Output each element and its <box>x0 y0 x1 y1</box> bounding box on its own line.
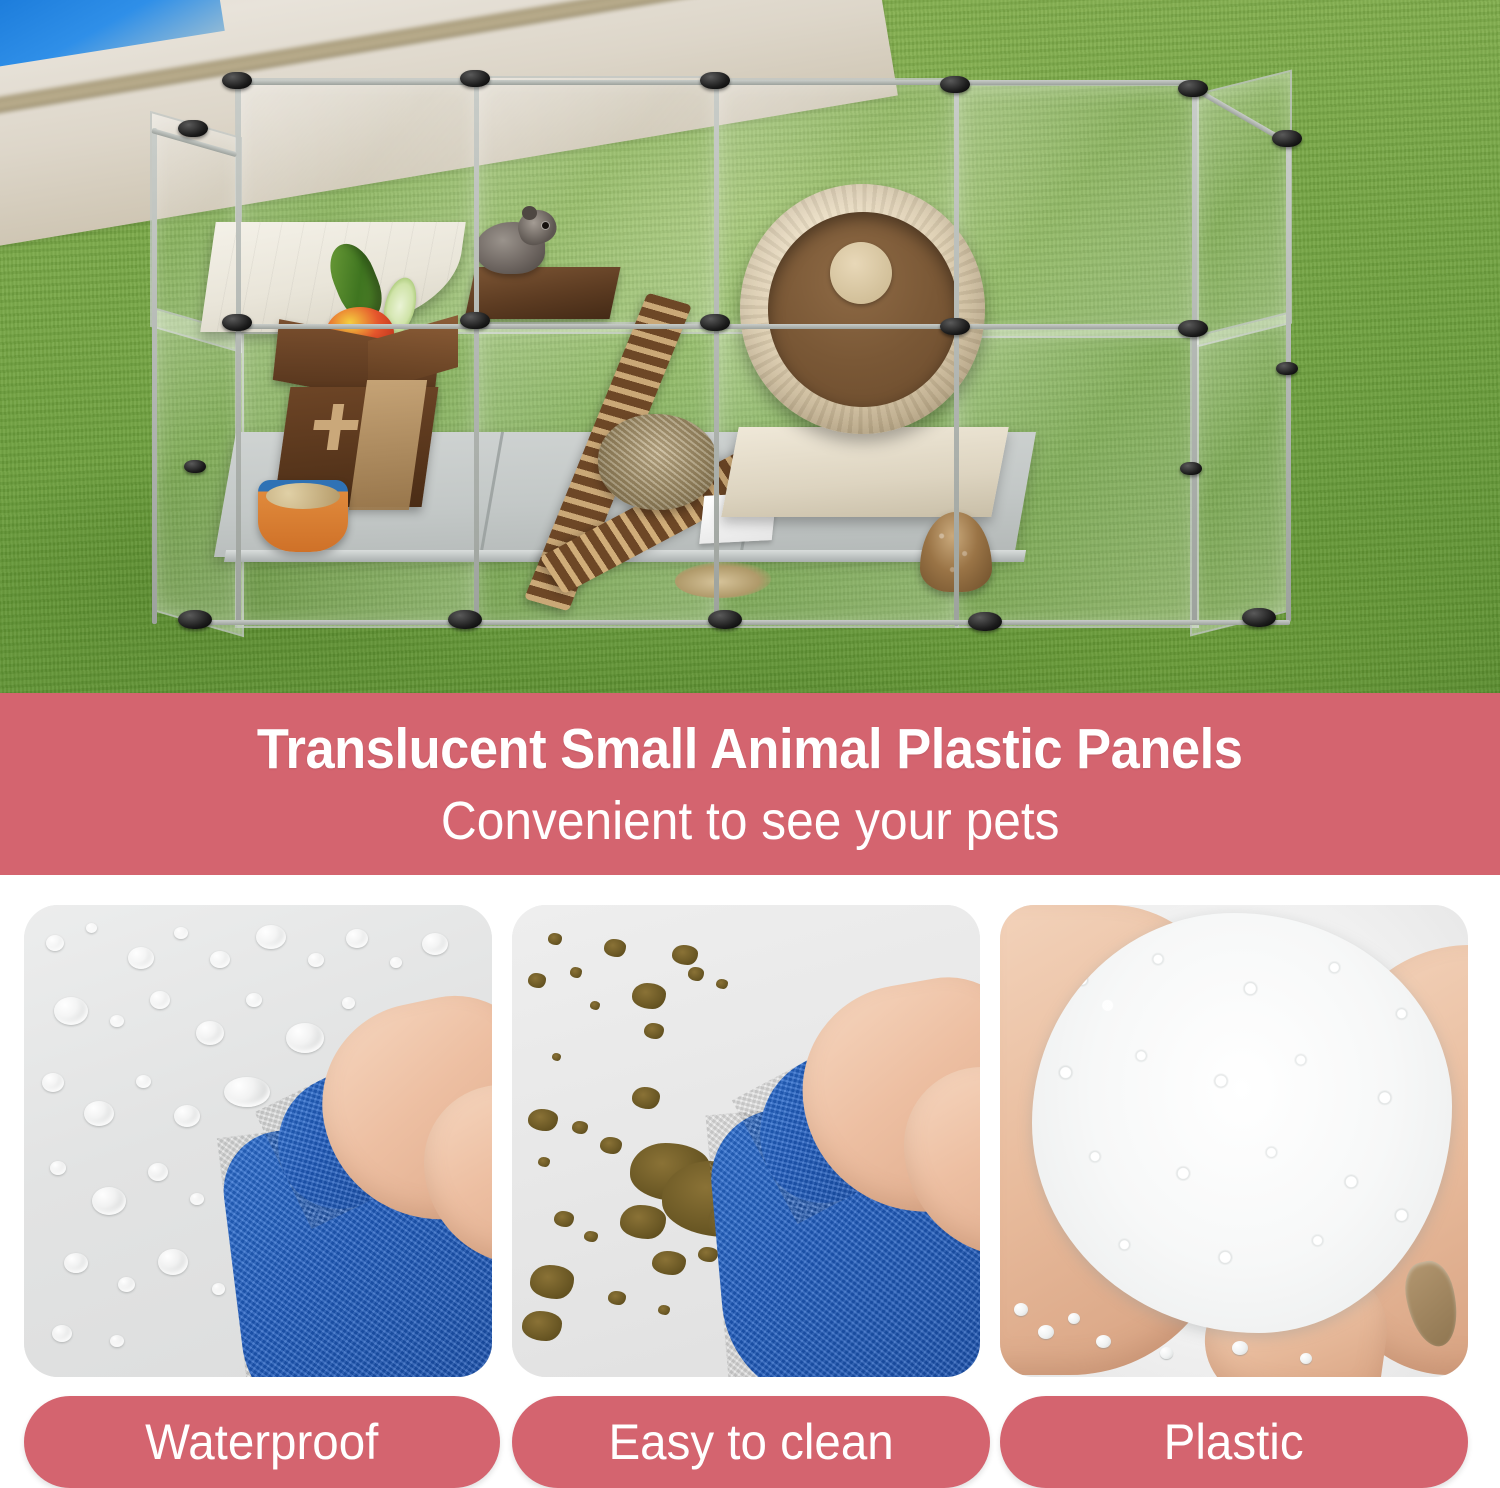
panel-right-top <box>1192 70 1292 349</box>
connector-clip-right-mid <box>1180 462 1202 475</box>
stray-pellet-5 <box>1160 1347 1173 1359</box>
hamster-ear <box>522 206 537 220</box>
connector-clip-left-top <box>178 120 208 137</box>
connector-clip-mid-3 <box>700 314 730 331</box>
stray-pellet-7 <box>1300 1353 1312 1364</box>
stray-pellet-4 <box>1096 1335 1111 1348</box>
connector-foot-5 <box>1242 608 1276 627</box>
bowl-seeds <box>266 483 340 509</box>
stray-pellet-2 <box>1038 1325 1054 1339</box>
feature-label-text: Plastic <box>1164 1417 1304 1467</box>
feature-label-text: Easy to clean <box>608 1417 893 1467</box>
frame-bar-v-5 <box>1192 88 1197 624</box>
connector-foot-4 <box>968 612 1002 631</box>
connector-clip-left-mid <box>184 460 206 473</box>
connector-clip-top-2 <box>460 70 490 87</box>
banner-subtitle: Convenient to see your pets <box>441 794 1060 848</box>
feature-panel-row: Waterproof Easy to clean Plastic <box>0 875 1500 1486</box>
connector-clip-top-1 <box>222 72 252 89</box>
stray-pellet-6 <box>1232 1341 1248 1355</box>
connector-clip-mid-4 <box>940 318 970 335</box>
connector-clip-top-4 <box>940 76 970 93</box>
frame-bar-v-1 <box>236 80 241 624</box>
hamster-eye <box>542 222 549 229</box>
connector-foot-2 <box>448 610 482 629</box>
frame-bar-v-3 <box>714 80 719 624</box>
connector-clip-right-top <box>1272 130 1302 147</box>
feature-image-plastic <box>1000 905 1468 1377</box>
house-cross-horizontal <box>313 420 358 430</box>
connector-foot-3 <box>708 610 742 629</box>
stray-pellet-3 <box>1068 1313 1080 1324</box>
panel-back-4 <box>955 84 1199 338</box>
straw-nest <box>598 414 718 510</box>
wheel-base-plate <box>721 427 1008 517</box>
frame-bar-v-left <box>152 128 157 624</box>
frame-bar-v-right <box>1286 140 1291 622</box>
feature-label-easy-to-clean[interactable]: Easy to clean <box>512 1396 990 1488</box>
connector-clip-top-5 <box>1178 80 1208 97</box>
feature-image-waterproof <box>24 905 492 1377</box>
connector-clip-mid-2 <box>460 312 490 329</box>
connector-clip-mid-5 <box>1178 320 1208 337</box>
exercise-wheel-hub <box>830 242 892 304</box>
feature-label-plastic[interactable]: Plastic <box>1000 1396 1468 1488</box>
plastic-panel-playpen <box>130 62 1310 642</box>
headline-banner: Translucent Small Animal Plastic Panels … <box>0 693 1500 875</box>
banner-title: Translucent Small Animal Plastic Panels <box>257 721 1243 778</box>
stray-pellet-1 <box>1014 1303 1028 1316</box>
frame-bar-v-2 <box>474 78 479 624</box>
feature-label-waterproof[interactable]: Waterproof <box>24 1396 500 1488</box>
frame-bar-v-4 <box>954 84 959 626</box>
connector-clip-top-3 <box>700 72 730 89</box>
connector-clip-mid-1 <box>222 314 252 331</box>
panel-right-bottom <box>1190 312 1290 637</box>
feature-label-text: Waterproof <box>145 1417 378 1467</box>
wooden-log <box>464 267 620 319</box>
connector-clip-right-mid-2 <box>1276 362 1298 375</box>
feature-image-easy-to-clean <box>512 905 980 1377</box>
connector-foot-1 <box>178 610 212 629</box>
hero-product-photo <box>0 0 1500 694</box>
